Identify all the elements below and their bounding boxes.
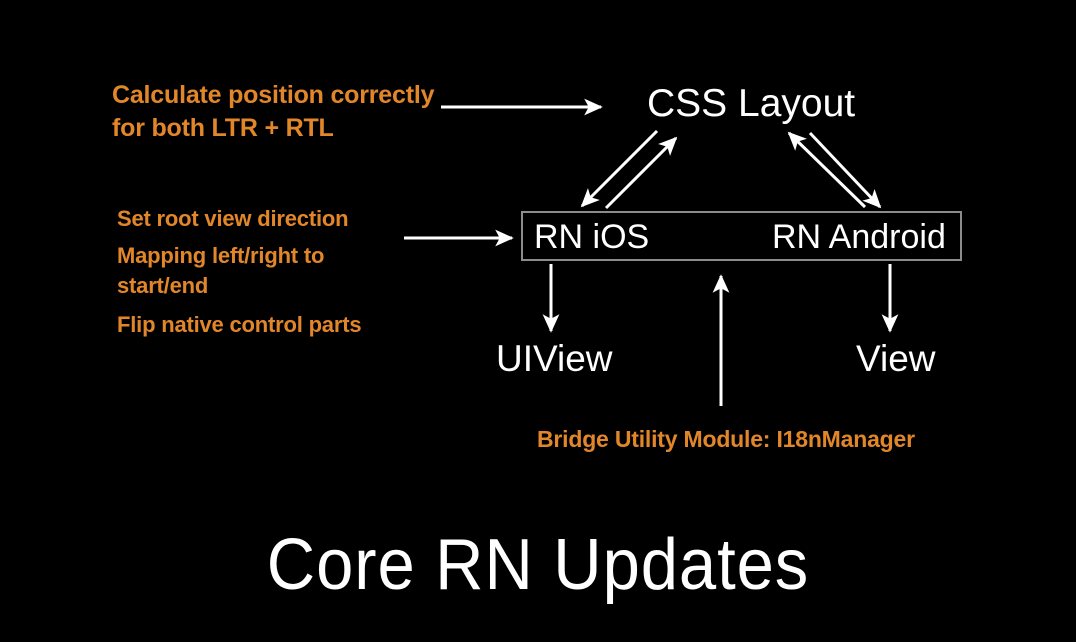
node-view: View — [856, 338, 936, 380]
note-bridge-utility-module: Bridge Utility Module: I18nManager — [537, 425, 915, 455]
arrow-css-layout-to-rn-android — [810, 133, 880, 207]
note-root-view-direction: Set root view direction — [117, 205, 417, 234]
node-uiview: UIView — [496, 338, 613, 380]
slide-canvas: Calculate position correctly for both LT… — [0, 0, 1076, 642]
slide-title: Core RN Updates — [38, 524, 1039, 606]
arrow-rn-android-to-css-layout — [789, 133, 865, 207]
note-css-layout: Calculate position correctly for both LT… — [112, 79, 442, 144]
note-mapping-left-right: Mapping left/right to start/end — [117, 241, 387, 302]
arrow-rn-ios-to-css-layout — [606, 138, 676, 208]
node-rn-ios: RN iOS — [534, 218, 649, 257]
note-flip-native-controls: Flip native control parts — [117, 311, 417, 340]
node-css-layout: CSS Layout — [647, 82, 855, 126]
node-rn-android: RN Android — [772, 218, 946, 257]
arrow-css-layout-to-rn-ios — [582, 131, 657, 206]
